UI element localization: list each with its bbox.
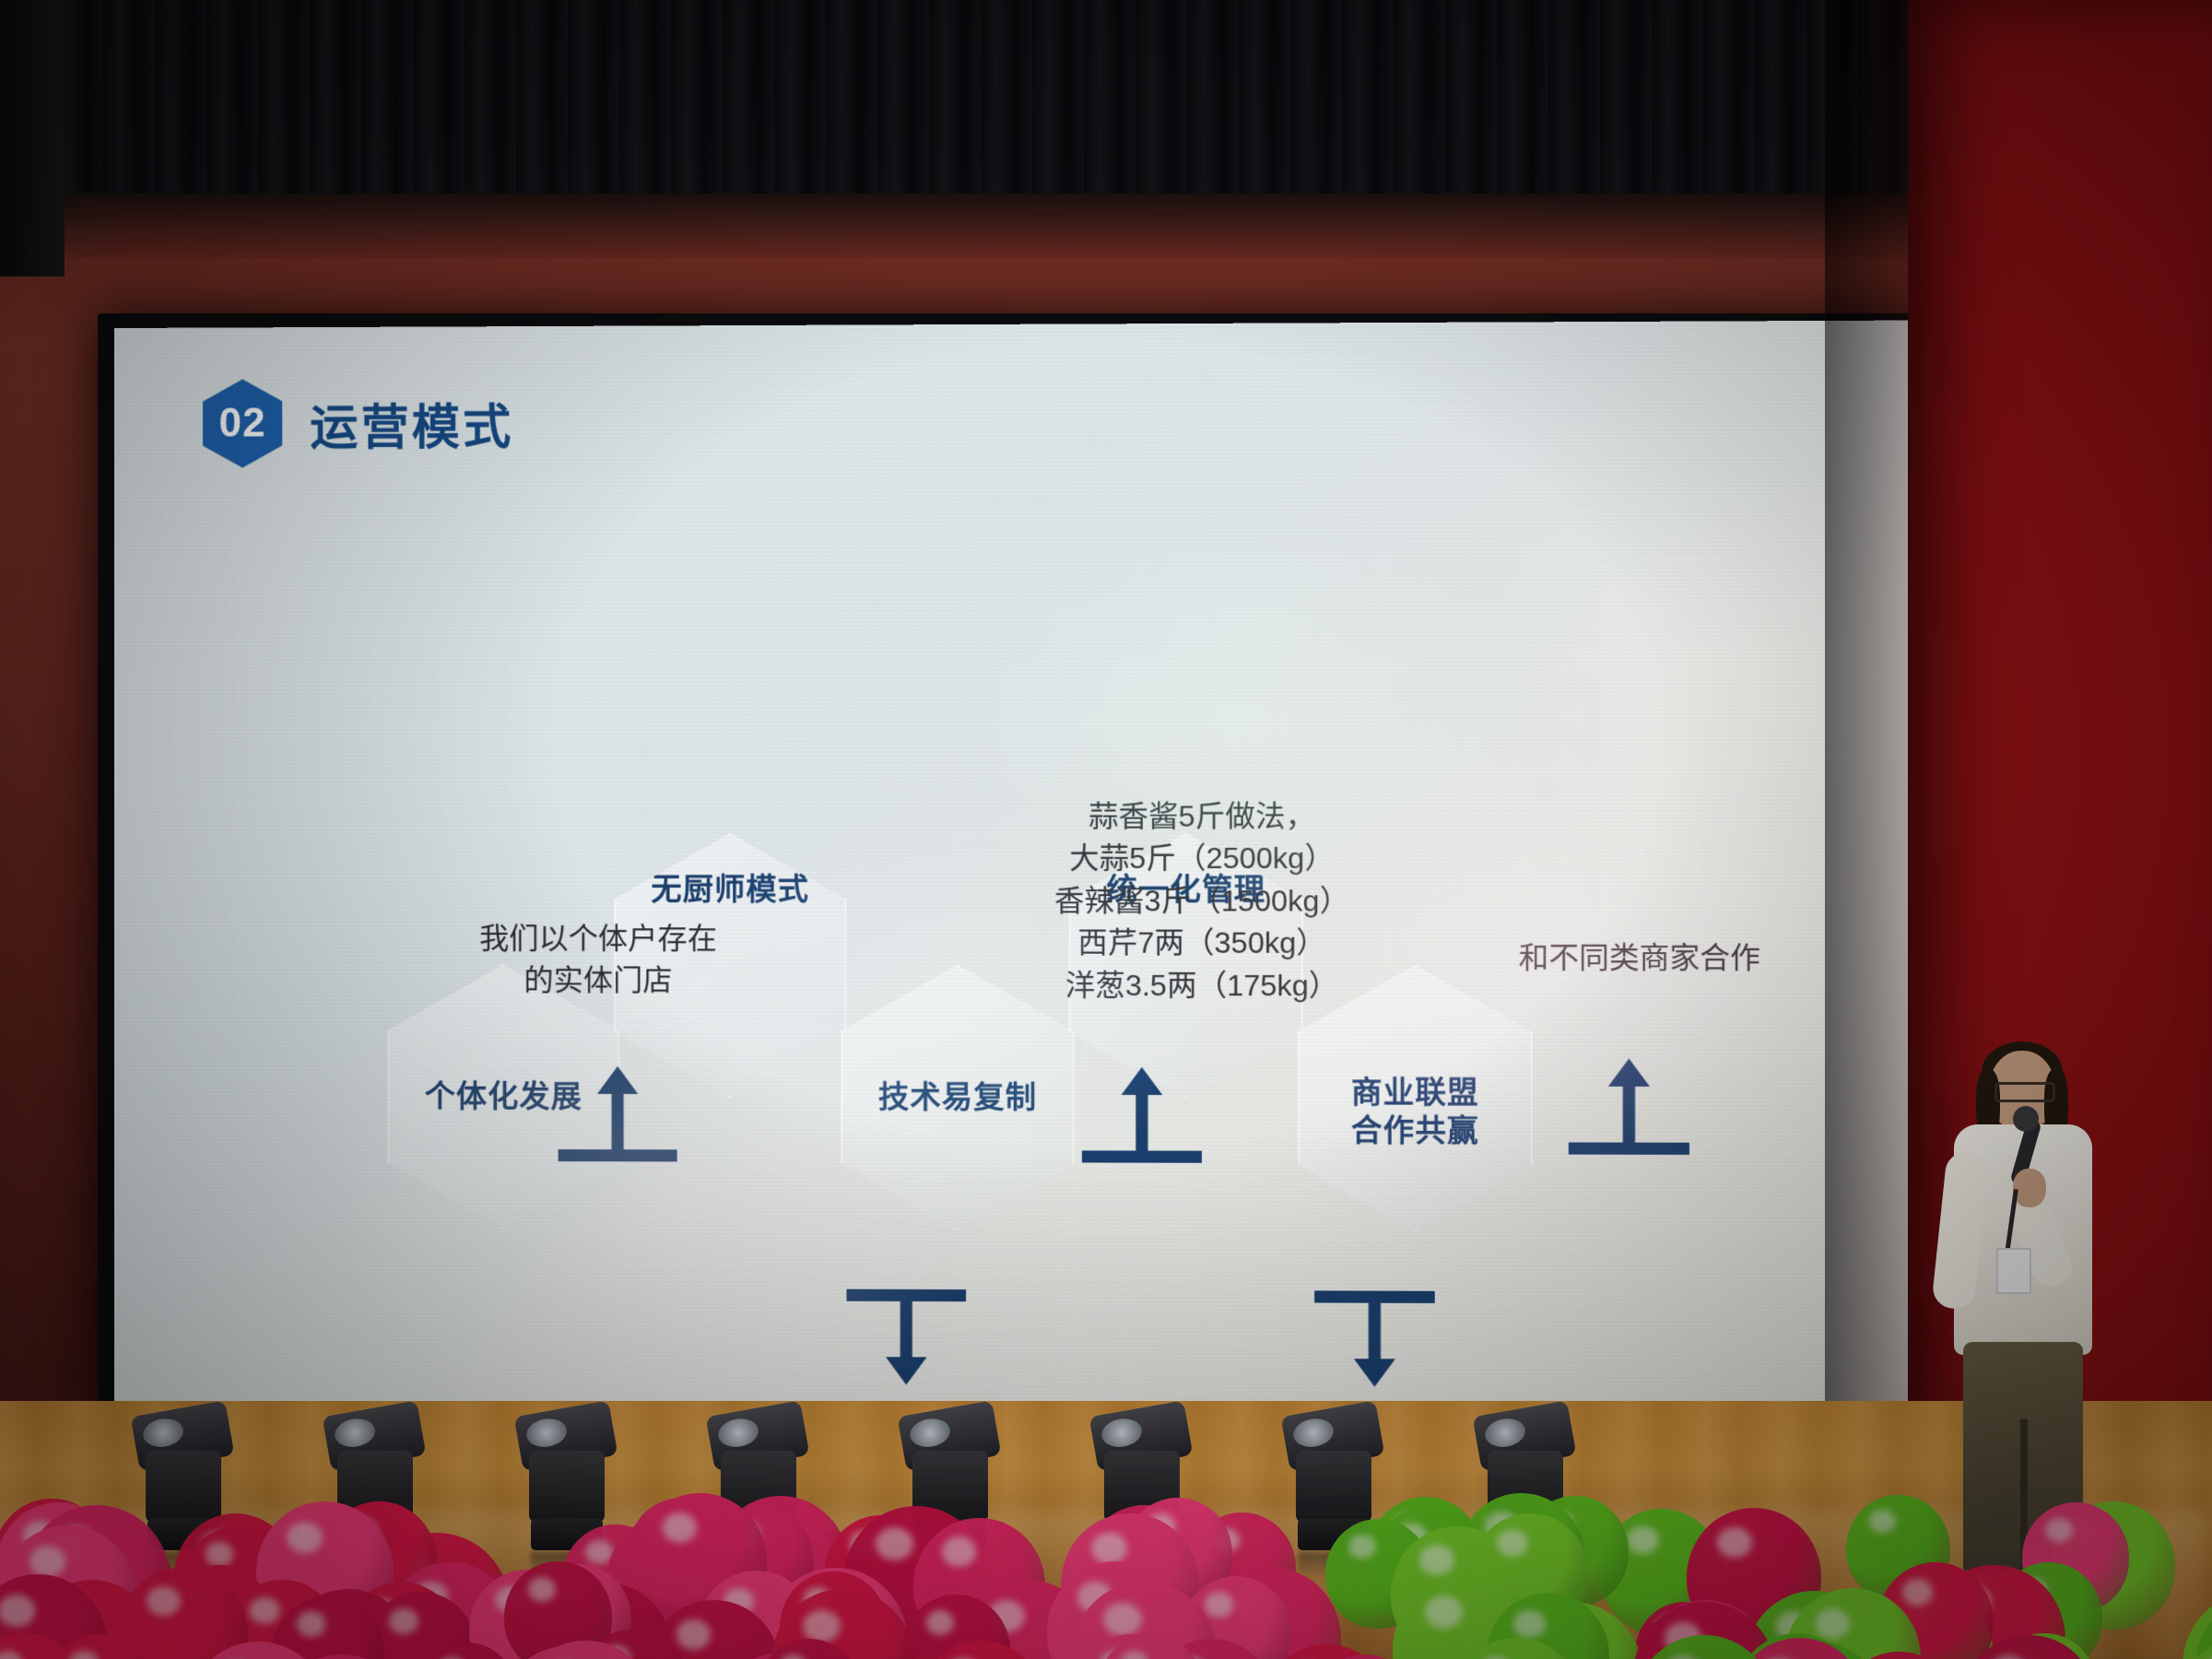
hexagon-label: 技术易复制 — [878, 1078, 1037, 1117]
speaker-glasses-icon — [1994, 1082, 2055, 1102]
section-number: 02 — [219, 400, 266, 446]
speaker-name-badge — [1996, 1248, 2031, 1294]
led-screen: 02 运营模式 个体化发展 无厨师模式 技术易复制 统一化管理 商业联盟 — [114, 320, 1937, 1414]
microphone-head — [2013, 1106, 2039, 1132]
stage-photo: 02 运营模式 个体化发展 无厨师模式 技术易复制 统一化管理 商业联盟 — [0, 0, 2212, 1659]
arrow-up-icon — [1569, 1058, 1689, 1154]
arrow-up-icon — [1082, 1067, 1202, 1163]
caption-top-left: 我们以个体户存在 的实体门店 — [445, 918, 752, 1002]
caption-top-right: 和不同类商家合作 — [1484, 937, 1795, 980]
arrow-down-icon — [846, 1289, 966, 1385]
arrow-down-icon — [1314, 1290, 1435, 1387]
balloon-arch — [0, 1475, 2212, 1659]
left-curtain-edge — [0, 0, 65, 276]
caption-recipe: 蒜香酱5斤做法， 大蒜5斤（2500kg） 香辣酱3斤（1500kg） 西芹7两… — [1001, 795, 1404, 1007]
hexagon-diagram: 个体化发展 无厨师模式 技术易复制 统一化管理 商业联盟 合作共赢 — [114, 320, 1937, 1414]
hexagon-label: 商业联盟 合作共赢 — [1351, 1073, 1479, 1150]
hexagon-label: 无厨师模式 — [651, 870, 809, 908]
presentation-slide: 02 运营模式 个体化发展 无厨师模式 技术易复制 统一化管理 商业联盟 — [114, 320, 1937, 1414]
arrow-up-icon — [559, 1066, 677, 1162]
speaker-hand — [2013, 1169, 2046, 1207]
